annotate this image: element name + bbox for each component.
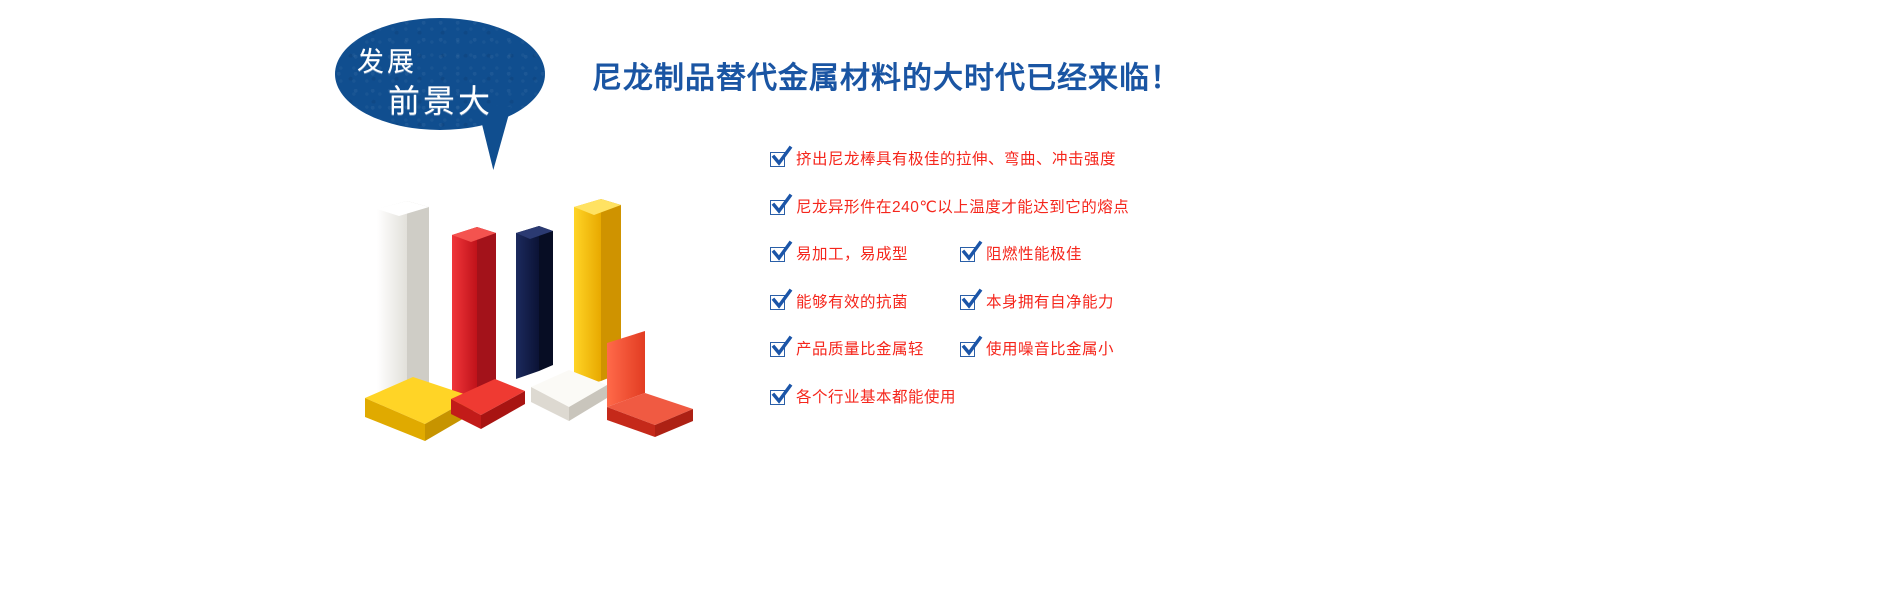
feature-item[interactable]: 能够有效的抗菌 (770, 295, 908, 311)
feature-text: 使用噪音比金属小 (986, 342, 1114, 358)
feature-list: 挤出尼龙棒具有极佳的拉伸、弯曲、冲击强度尼龙异形件在240℃以上温度才能达到它的… (770, 152, 1370, 437)
feature-row: 尼龙异形件在240℃以上温度才能达到它的熔点 (770, 200, 1370, 248)
checkbox-checked-icon (770, 247, 785, 262)
feature-item[interactable]: 各个行业基本都能使用 (770, 390, 956, 406)
nylon-profiles-illustration (355, 185, 700, 460)
checkbox-checked-icon (960, 247, 975, 262)
feature-item[interactable]: 产品质量比金属轻 (770, 342, 924, 358)
feature-item[interactable]: 尼龙异形件在240℃以上温度才能达到它的熔点 (770, 200, 1129, 216)
feature-text: 挤出尼龙棒具有极佳的拉伸、弯曲、冲击强度 (796, 152, 1116, 168)
feature-text: 易加工，易成型 (796, 247, 908, 263)
feature-item[interactable]: 挤出尼龙棒具有极佳的拉伸、弯曲、冲击强度 (770, 152, 1116, 168)
feature-item[interactable]: 阻燃性能极佳 (960, 247, 1082, 263)
feature-item[interactable]: 使用噪音比金属小 (960, 342, 1114, 358)
promo-banner: 发展 前景大 尼龙制品替代金属材料的大时代已经来临！ (0, 0, 1902, 592)
feature-text: 本身拥有自净能力 (986, 295, 1114, 311)
feature-text: 各个行业基本都能使用 (796, 390, 956, 406)
feature-text: 产品质量比金属轻 (796, 342, 924, 358)
feature-row: 各个行业基本都能使用 (770, 390, 1370, 438)
checkbox-checked-icon (960, 295, 975, 310)
checkbox-checked-icon (770, 152, 785, 167)
checkbox-checked-icon (770, 200, 785, 215)
bubble-text-line1: 发展 (357, 40, 417, 79)
checkbox-checked-icon (770, 390, 785, 405)
feature-text: 阻燃性能极佳 (986, 247, 1082, 263)
page-title: 尼龙制品替代金属材料的大时代已经来临！ (592, 53, 1181, 97)
product-photo (355, 185, 700, 460)
feature-row: 挤出尼龙棒具有极佳的拉伸、弯曲、冲击强度 (770, 152, 1370, 200)
feature-item[interactable]: 本身拥有自净能力 (960, 295, 1114, 311)
feature-text: 能够有效的抗菌 (796, 295, 908, 311)
feature-row: 产品质量比金属轻使用噪音比金属小 (770, 342, 1370, 390)
feature-text: 尼龙异形件在240℃以上温度才能达到它的熔点 (796, 200, 1129, 216)
checkbox-checked-icon (770, 295, 785, 310)
checkbox-checked-icon (960, 342, 975, 357)
speech-bubble: 发展 前景大 (335, 18, 550, 168)
feature-item[interactable]: 易加工，易成型 (770, 247, 908, 263)
bubble-text-line2: 前景大 (388, 76, 493, 122)
checkbox-checked-icon (770, 342, 785, 357)
feature-row: 易加工，易成型阻燃性能极佳 (770, 247, 1370, 295)
feature-row: 能够有效的抗菌本身拥有自净能力 (770, 295, 1370, 343)
